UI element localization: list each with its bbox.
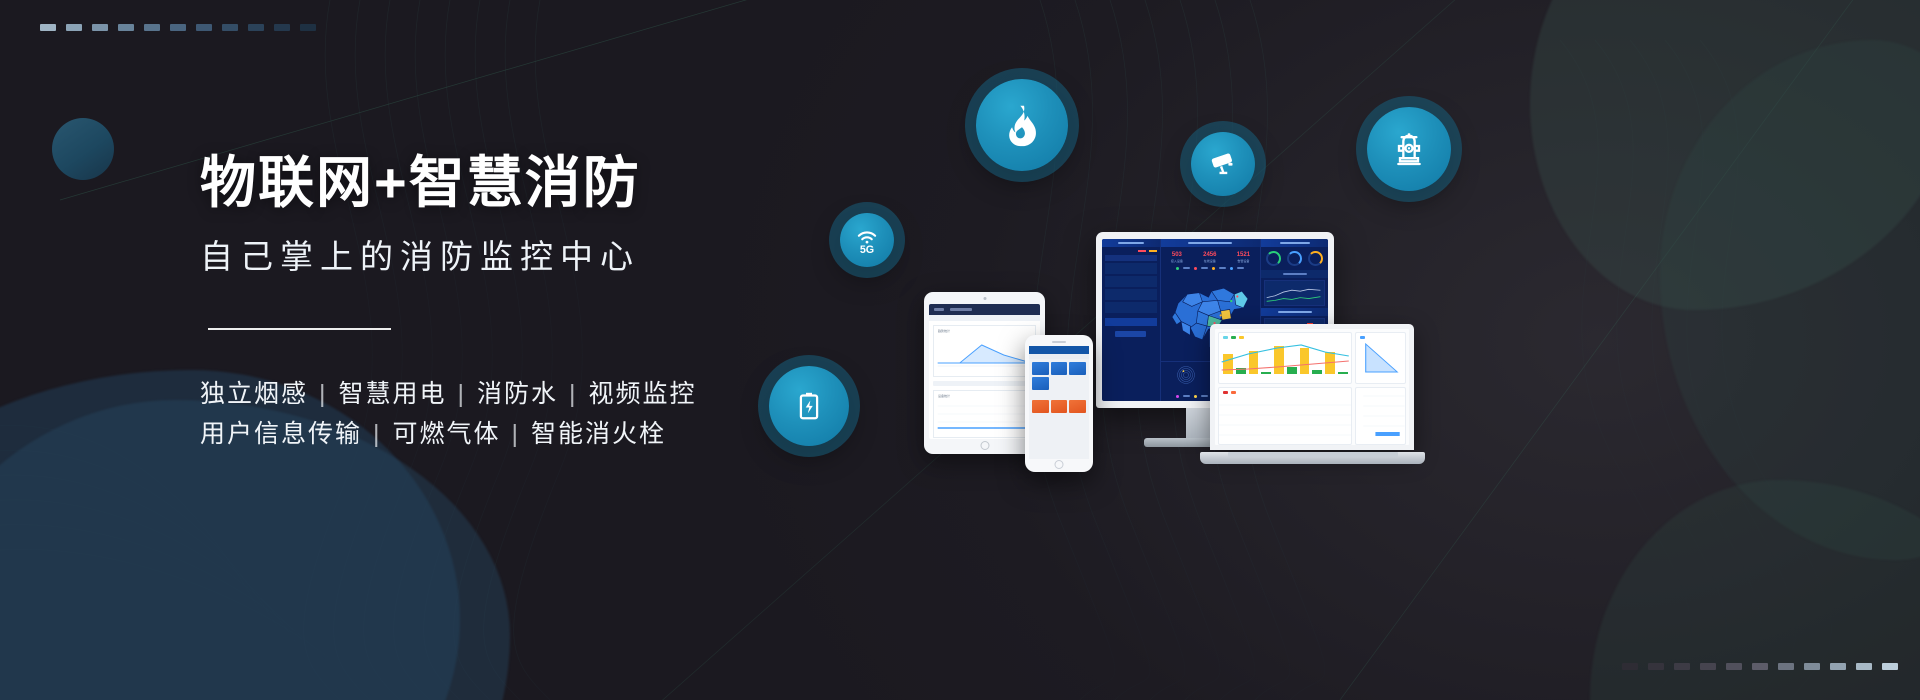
fire-hydrant-icon (1367, 107, 1451, 191)
phone-header-bar (1029, 346, 1089, 354)
dashboard-kpi-row: 503接入设备 2456在线设备 1521告警设备 (1161, 247, 1260, 265)
feature-item: 消防水 (477, 374, 558, 414)
feature-item: 智慧用电 (339, 374, 447, 414)
tablet-camera-icon (983, 297, 986, 300)
tablet-flat-chart-card: 设备统计 (933, 390, 1036, 438)
5g-signal-icon: 5G (840, 213, 894, 267)
tablet-screen: 趋势统计 设备统计 (929, 304, 1040, 439)
laptop-grid-chart-card (1218, 387, 1352, 445)
phone-tile (1032, 377, 1049, 390)
feature-list: 独立烟感 | 智慧用电 | 消防水 | 视频监控 用户信息传输 | 可燃气体 |… (200, 374, 840, 454)
decor-dashes-bottom-right (1622, 663, 1898, 670)
map-legend (1161, 265, 1260, 272)
laptop-screen (1215, 329, 1409, 445)
phone-home-button (1055, 460, 1064, 469)
feature-separator: | (373, 414, 382, 454)
5g-label: 5G (860, 244, 874, 255)
phone-device (1025, 335, 1093, 472)
phone-tile (1051, 362, 1068, 375)
title-divider (208, 328, 391, 330)
kpi-item: 1521告警设备 (1237, 252, 1250, 263)
phone-tile (1032, 362, 1049, 375)
decor-circle-top-left (52, 118, 114, 180)
decor-dashes-top-left (40, 24, 316, 31)
laptop-bar-chart-card (1218, 332, 1352, 384)
decor-blob-right-mid (1660, 40, 1920, 560)
dashboard-left-panel (1102, 239, 1161, 401)
laptop-area-chart-card (1355, 332, 1406, 384)
feature-separator: | (512, 414, 521, 454)
feature-separator: | (458, 374, 467, 414)
phone-tile (1069, 362, 1086, 375)
kpi-item: 503接入设备 (1171, 252, 1183, 263)
security-camera-icon (1191, 132, 1255, 196)
feature-item: 智能消火栓 (531, 414, 666, 454)
hero-copy: 物联网+智慧消防 自己掌上的消防监控中心 独立烟感 | 智慧用电 | 消防水 |… (200, 150, 840, 454)
line-chart-widget (1264, 280, 1325, 306)
laptop-device (1200, 324, 1425, 480)
page-subtitle: 自己掌上的消防监控中心 (200, 234, 840, 280)
laptop-base (1200, 452, 1425, 464)
feature-separator: | (569, 374, 578, 414)
page-title: 物联网+智慧消防 (200, 150, 840, 216)
phone-tile-grid-blue (1029, 359, 1089, 393)
decor-blob-right-top (1530, 0, 1920, 310)
hero-banner: 物联网+智慧消防 自己掌上的消防监控中心 独立烟感 | 智慧用电 | 消防水 |… (0, 0, 1920, 700)
tablet-line-chart-card: 趋势统计 (933, 325, 1036, 377)
phone-tile (1032, 400, 1049, 413)
feature-item: 用户信息传输 (200, 414, 362, 454)
feature-line-2: 用户信息传输 | 可燃气体 | 智能消火栓 (200, 414, 840, 454)
feature-item: 可燃气体 (393, 414, 501, 454)
feature-item: 独立烟感 (200, 374, 308, 414)
decor-blob-right-bottom (1590, 480, 1920, 700)
feature-item: 视频监控 (589, 374, 697, 414)
laptop-trackpad (1228, 452, 1398, 457)
tablet-header-bar (929, 304, 1040, 315)
battery-bolt-icon (769, 366, 849, 446)
phone-tile (1051, 400, 1068, 413)
laptop-mini-bar-card (1355, 387, 1406, 445)
feature-line-1: 独立烟感 | 智慧用电 | 消防水 | 视频监控 (200, 374, 840, 414)
phone-tile (1069, 400, 1086, 413)
phone-screen (1029, 346, 1089, 459)
phone-tile-grid-orange (1029, 397, 1089, 416)
tablet-home-button (980, 441, 989, 450)
kpi-item: 2456在线设备 (1203, 252, 1216, 263)
fire-icon (976, 79, 1068, 171)
phone-speaker-icon (1052, 341, 1066, 343)
feature-separator: | (319, 374, 328, 414)
device-mockup-cluster: 503接入设备 2456在线设备 1521告警设备 (900, 232, 1430, 472)
